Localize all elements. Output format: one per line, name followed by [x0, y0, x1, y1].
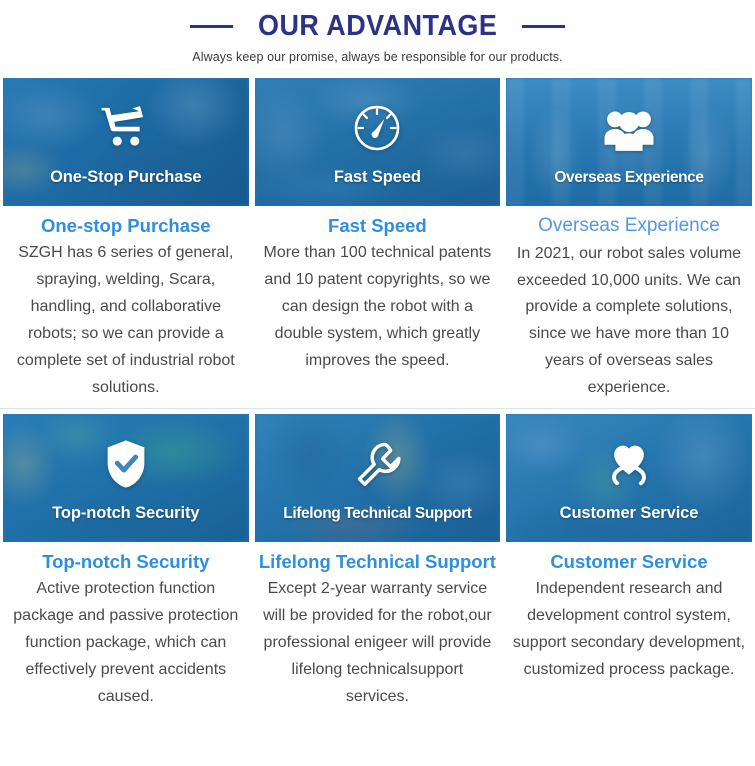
card-title: Fast Speed	[255, 215, 501, 236]
page-title: OUR ADVANTAGE	[258, 11, 497, 43]
banner-label: Overseas Experience	[554, 169, 703, 187]
advantage-card[interactable]: Customer Service Customer Service Indepe…	[503, 414, 755, 711]
banner-label: Customer Service	[560, 504, 699, 523]
advantage-card[interactable]: Top-notch Security Top-notch Security Ac…	[0, 414, 252, 711]
card-banner: Lifelong Technical Support	[255, 414, 501, 542]
speedometer-icon	[349, 100, 405, 156]
advantage-card[interactable]: One-Stop Purchase One-stop Purchase SZGH…	[0, 78, 252, 402]
card-title: Overseas Experience	[506, 215, 752, 237]
people-group-icon	[601, 101, 657, 157]
card-body: Active protection function package and p…	[3, 576, 249, 710]
card-title: Top-notch Security	[3, 551, 249, 572]
shield-check-icon	[98, 436, 154, 492]
card-banner: Customer Service	[506, 414, 752, 542]
page-subtitle: Always keep our promise, always be respo…	[0, 50, 755, 64]
card-banner: Overseas Experience	[506, 78, 752, 206]
shopping-cart-icon	[98, 100, 154, 156]
card-body: SZGH has 6 series of general, spraying, …	[3, 240, 249, 401]
card-banner: One-Stop Purchase	[3, 78, 249, 206]
banner-label: One-Stop Purchase	[50, 168, 201, 187]
advantage-card[interactable]: Overseas Experience Overseas Experience …	[503, 78, 755, 402]
advantage-card[interactable]: Lifelong Technical Support Lifelong Tech…	[252, 414, 504, 711]
section-header: OUR ADVANTAGE Always keep our promise, a…	[0, 0, 755, 64]
header-dash-left	[190, 25, 233, 28]
card-body: In 2021, our robot sales volume exceeded…	[506, 241, 752, 402]
card-body: More than 100 technical patents and 10 p…	[255, 240, 501, 374]
banner-label: Fast Speed	[334, 168, 421, 187]
advantage-card-grid: One-Stop Purchase One-stop Purchase SZGH…	[0, 78, 755, 711]
card-title: One-stop Purchase	[3, 215, 249, 236]
wrench-icon	[349, 437, 405, 493]
card-banner: Top-notch Security	[3, 414, 249, 542]
card-title: Customer Service	[506, 551, 752, 572]
heart-in-hands-icon	[601, 436, 657, 492]
header-title-row: OUR ADVANTAGE	[0, 11, 755, 43]
row-divider	[0, 408, 755, 409]
card-body: Except 2-year warranty service will be p…	[255, 576, 501, 710]
banner-label: Top-notch Security	[52, 504, 199, 523]
header-dash-right	[522, 25, 565, 28]
advantage-card[interactable]: Fast Speed Fast Speed More than 100 tech…	[252, 78, 504, 402]
banner-label: Lifelong Technical Support	[283, 505, 471, 523]
card-title: Lifelong Technical Support	[255, 551, 501, 572]
advantage-page: OUR ADVANTAGE Always keep our promise, a…	[0, 0, 755, 766]
card-banner: Fast Speed	[255, 78, 501, 206]
card-body: Independent research and development con…	[506, 576, 752, 684]
